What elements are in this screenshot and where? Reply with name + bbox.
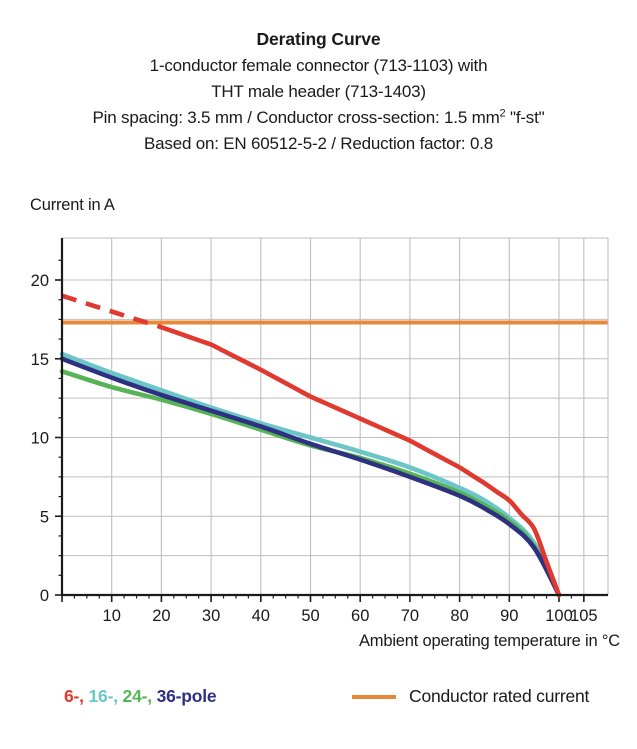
y-tick-label: 5	[40, 508, 49, 526]
x-tick-label: 50	[301, 607, 319, 625]
x-tick-label: 105	[570, 607, 598, 625]
series-layer	[62, 296, 608, 595]
x-tick-label: 20	[152, 607, 170, 625]
y-tick-label: 10	[31, 430, 49, 448]
x-tick-label: 40	[252, 607, 270, 625]
derating-curve-svg: 102030405060708090100105 05101520	[0, 0, 637, 680]
y-tick-label: 20	[31, 272, 49, 290]
legend-item-6pole: 6-,	[64, 686, 84, 706]
legend-item-24pole: 24-,	[123, 686, 152, 706]
chart-legend: 6-, 16-, 24-, 36-pole Conductor rated cu…	[0, 686, 637, 726]
y-tick-labels: 05101520	[31, 272, 49, 605]
x-tick-label: 30	[202, 607, 220, 625]
ticks-layer	[55, 260, 584, 602]
legend-rated-label: Conductor rated current	[409, 686, 589, 707]
legend-item-36pole: 36-pole	[157, 686, 217, 706]
chart-plot-area: 102030405060708090100105 05101520	[0, 0, 637, 680]
y-tick-label: 0	[40, 587, 49, 605]
x-tick-label: 10	[103, 607, 121, 625]
legend-item-16pole: 16-,	[89, 686, 118, 706]
x-tick-label: 100	[545, 607, 573, 625]
x-tick-label: 80	[450, 607, 468, 625]
x-tick-label: 60	[351, 607, 369, 625]
y-tick-label: 15	[31, 351, 49, 369]
legend-line-swatch-icon	[352, 695, 396, 699]
x-tick-labels: 102030405060708090100105	[103, 607, 598, 625]
legend-poles: 6-, 16-, 24-, 36-pole	[64, 686, 216, 707]
legend-rated-current: Conductor rated current	[352, 686, 589, 707]
x-tick-label: 70	[401, 607, 419, 625]
x-tick-label: 90	[500, 607, 518, 625]
